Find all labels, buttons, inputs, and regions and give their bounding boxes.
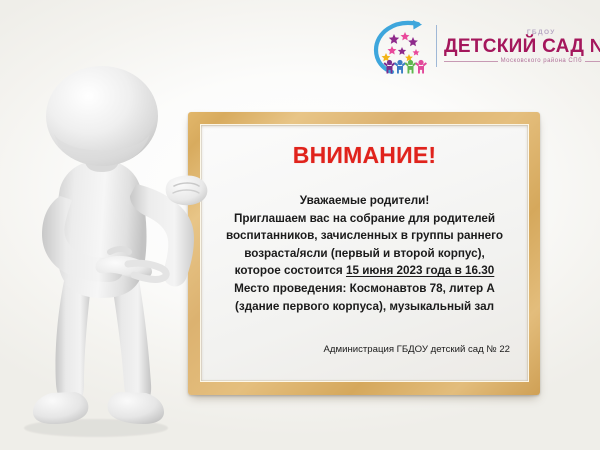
notice-date-highlight: 15 июня 2023 года в 16.30 <box>346 264 494 277</box>
board-surface: ВНИМАНИЕ! Уважаемые родители! Приглашаем… <box>201 125 528 381</box>
notice-signature: Администрация ГБДОУ детский сад № 22 <box>215 344 514 371</box>
notice-line: воспитанников, зачисленных в группы ранн… <box>215 227 514 245</box>
notice-line-date-prefix: которое состоится <box>235 264 346 277</box>
notice-line: (здание первого корпуса), музыкальный за… <box>215 298 514 316</box>
notice-body: Уважаемые родители! Приглашаем вас на со… <box>215 192 514 315</box>
logo-main-text: ДЕТСКИЙ САД № 22 <box>444 37 600 56</box>
logo-text-block: ГБДОУ ДЕТСКИЙ САД № 22 Московского район… <box>444 28 600 65</box>
wooden-notice-board: ВНИМАНИЕ! Уважаемые родители! Приглашаем… <box>188 112 540 395</box>
notice-line: Уважаемые родители! <box>215 192 514 210</box>
logo-rule-left <box>444 61 498 62</box>
notice-title: ВНИМАНИЕ! <box>215 142 514 169</box>
children-stars-arc-emblem-icon <box>372 18 434 74</box>
notice-line: Приглашаем вас на собрание для родителей <box>215 210 514 228</box>
notice-line-date: которое состоится 15 июня 2023 года в 16… <box>215 262 514 280</box>
logo-sub-text: Московского района СПб <box>498 58 585 64</box>
poster-canvas: ГБДОУ ДЕТСКИЙ САД № 22 Московского район… <box>0 0 600 450</box>
logo-divider <box>436 25 437 67</box>
board-inner-bevel: ВНИМАНИЕ! Уважаемые родители! Приглашаем… <box>200 124 529 382</box>
notice-line: Место проведения: Космонавтов 78, литер … <box>215 280 514 298</box>
logo-sub-row: Московского района СПб <box>444 58 600 64</box>
logo-rule-right <box>585 61 600 62</box>
notice-line: возраста/ясли (первый и второй корпус), <box>215 245 514 263</box>
logo-kindergarten-22: ГБДОУ ДЕТСКИЙ САД № 22 Московского район… <box>372 16 586 76</box>
